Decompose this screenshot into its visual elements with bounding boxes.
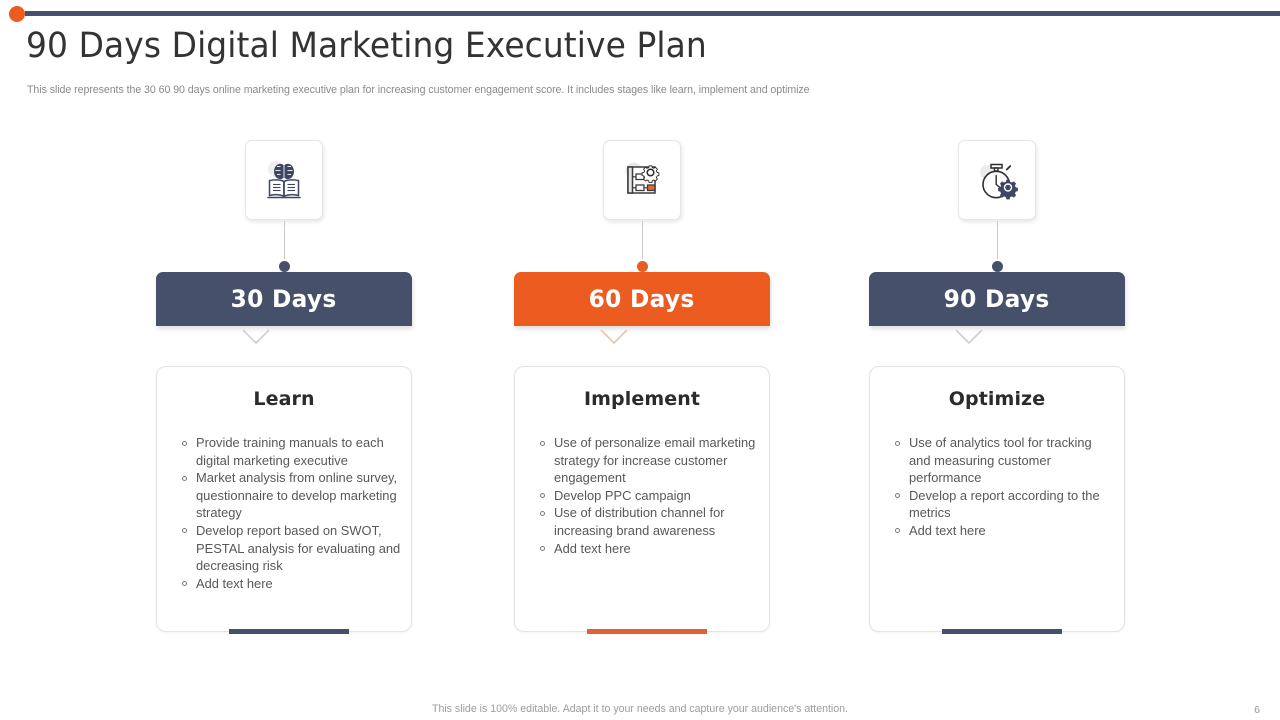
flowchart-gear-icon [617,155,667,205]
list-item: Use of analytics tool for tracking and m… [882,434,1114,487]
stage-band-60-days[interactable]: 60 Days [514,272,770,326]
list-item: Add text here [527,540,759,558]
card-bottom-accent-bar [942,629,1062,634]
slide-canvas: 90 Days Digital Marketing Executive Plan… [0,0,1280,720]
list-item: Use of distribution channel for increasi… [527,504,759,539]
bullet-list-implement: Use of personalize email marketing strat… [527,434,759,557]
stage-column-60-days: 60 Days Implement Use of personalize ema… [483,0,803,720]
icon-tile-learn[interactable] [245,140,323,220]
detail-card-learn: Learn Provide training manuals to each d… [156,366,412,632]
card-bottom-accent-bar [587,629,707,634]
footer-note: This slide is 100% editable. Adapt it to… [0,703,1280,715]
brain-book-icon [259,155,309,205]
detail-card-implement: Implement Use of personalize email marke… [514,366,770,632]
card-title: Implement [515,388,769,410]
list-item: Add text here [882,522,1114,540]
chevron-down-icon [242,329,270,347]
bullet-list-optimize: Use of analytics tool for tracking and m… [882,434,1114,540]
card-title: Optimize [870,388,1124,410]
chevron-down-icon [955,329,983,347]
stage-column-30-days: 30 Days Learn Provide training manuals t… [125,0,445,720]
stage-column-90-days: 90 Days Optimize Use of analytics tool f… [838,0,1158,720]
card-title: Learn [157,388,411,410]
stage-band-30-days[interactable]: 30 Days [156,272,412,326]
list-item: Provide training manuals to each digital… [169,434,401,469]
stage-band-90-days[interactable]: 90 Days [869,272,1125,326]
list-item: Develop report based on SWOT, PESTAL ana… [169,522,401,575]
page-number: 6 [1248,701,1266,719]
stage-band-label: 30 Days [231,285,337,313]
header-accent-dot-icon [9,6,25,22]
list-item: Add text here [169,575,401,593]
chevron-down-icon [600,329,628,347]
icon-tile-optimize[interactable] [958,140,1036,220]
stage-band-label: 90 Days [944,285,1050,313]
bullet-list-learn: Provide training manuals to each digital… [169,434,401,592]
list-item: Market analysis from online survey, ques… [169,469,401,522]
list-item: Develop PPC campaign [527,487,759,505]
detail-card-optimize: Optimize Use of analytics tool for track… [869,366,1125,632]
stage-band-label: 60 Days [589,285,695,313]
icon-tile-implement[interactable] [603,140,681,220]
list-item: Use of personalize email marketing strat… [527,434,759,487]
stopwatch-gear-icon [972,155,1022,205]
list-item: Develop a report according to the metric… [882,487,1114,522]
card-bottom-accent-bar [229,629,349,634]
